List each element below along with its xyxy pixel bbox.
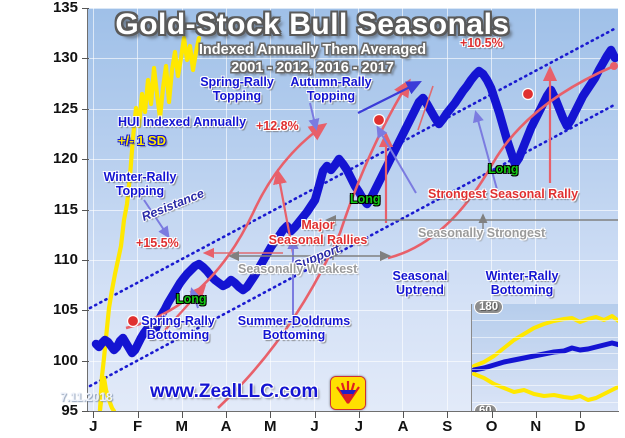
y-axis-tick (82, 411, 89, 412)
y-axis-tick (82, 58, 89, 59)
annotation-spring-rally-topping-line1: Spring-Rally (192, 76, 282, 89)
annotation-summer-doldrums-line1: Summer-Doldrums (230, 315, 358, 328)
annotation-sd-band: +/- 1 SD (118, 134, 166, 148)
page-title: Gold-Stock Bull Seasonals (0, 8, 625, 42)
x-axis-label: M (258, 418, 282, 435)
inset-gridline (472, 320, 618, 321)
inset-bottom-label: 60 (474, 404, 497, 411)
annotation-autumn-rally-topping-line2: Topping (284, 90, 378, 103)
x-axis-label: M (170, 418, 194, 435)
x-axis-label: N (524, 418, 548, 435)
zeal-logo (330, 376, 366, 410)
annotation-seasonal-uptrend-line1: Seasonal (378, 270, 462, 283)
inset-gridline (472, 369, 618, 370)
annotation-summer-doldrums-line2: Bottoming (230, 329, 358, 342)
x-axis-label: D (568, 418, 592, 435)
x-axis-tick (359, 411, 360, 418)
x-axis-tick (93, 411, 94, 418)
annotation-hui-indexed: HUI Indexed Annually (118, 116, 246, 129)
annotation-strongest-rally: Strongest Seasonal Rally (428, 188, 578, 201)
y-axis-tick (82, 361, 89, 362)
y-axis-label: 110 (6, 251, 78, 268)
inset-chart (471, 304, 618, 411)
y-axis-label: 105 (6, 301, 78, 318)
annotation-spring-rally-topping-line2: Topping (192, 90, 282, 103)
x-axis-tick (270, 411, 271, 418)
inset-gridline (472, 385, 618, 386)
x-axis-label: A (214, 418, 238, 435)
y-axis-label: 125 (6, 100, 78, 117)
annotation-autumn-rally-topping-line1: Autumn-Rally (284, 76, 378, 89)
y-axis-tick (82, 210, 89, 211)
y-axis-label: 120 (6, 150, 78, 167)
date-stamp: 7.11.2018 (60, 390, 113, 404)
inset-top-label: 180 (474, 300, 503, 314)
inset-gridline (472, 353, 618, 354)
x-axis-tick (138, 411, 139, 418)
x-axis-tick (580, 411, 581, 418)
inset-gridline (472, 402, 618, 403)
y-axis-label: 130 (6, 49, 78, 66)
annotation-seasonally-strongest: Seasonally Strongest (418, 227, 545, 240)
chart-root: HUI Indexed Annually +/- 1 SD Winter-Ral… (0, 0, 625, 438)
x-axis-line (88, 411, 619, 412)
annotation-pct-2: +12.8% (256, 120, 299, 133)
x-axis-tick (403, 411, 404, 418)
sd-upper-band (100, 38, 199, 410)
x-axis-tick (315, 411, 316, 418)
annotation-winter-rally-topping-line2: Topping (96, 185, 184, 198)
annotation-winter-rally-bottoming-line2: Bottoming (472, 284, 572, 297)
sunburst-icon (331, 377, 365, 409)
x-axis-label: J (347, 418, 371, 435)
x-axis-tick (226, 411, 227, 418)
annotation-winter-rally-bottoming-line1: Winter-Rally (472, 270, 572, 283)
subtitle-line-1: Indexed Annually Then Averaged (0, 42, 625, 58)
annotation-long-3: Long (488, 163, 519, 176)
y-axis-tick (82, 109, 89, 110)
annotation-major-line1: Major (283, 219, 353, 232)
x-axis-label: A (391, 418, 415, 435)
y-axis-label: 100 (6, 352, 78, 369)
x-axis-label: F (126, 418, 150, 435)
x-axis-tick (447, 411, 448, 418)
y-axis-label: 135 (6, 0, 78, 16)
y-axis-tick (82, 8, 89, 9)
y-axis-label: 115 (6, 201, 78, 218)
x-axis-label: J (303, 418, 327, 435)
y-axis-label: 95 (6, 402, 78, 419)
annotation-seasonally-weakest: Seasonally Weakest (238, 263, 357, 276)
annotation-long-2: Long (350, 193, 381, 206)
x-axis-tick (536, 411, 537, 418)
annotation-winter-rally-topping-line1: Winter-Rally (96, 171, 184, 184)
x-axis-label: J (81, 418, 105, 435)
y-axis-tick (82, 260, 89, 261)
x-axis-tick (492, 411, 493, 418)
subtitle-line-2: 2001 - 2012, 2016 - 2017 (0, 60, 625, 76)
annotation-spring-rally-bottoming-line1: Spring-Rally (118, 315, 238, 328)
website-link[interactable]: www.ZealLLC.com (150, 381, 318, 403)
annotation-major-line2: Seasonal Rallies (248, 234, 388, 247)
y-axis-tick (82, 159, 89, 160)
x-axis-label: S (435, 418, 459, 435)
annotation-seasonal-uptrend-line2: Uptrend (378, 284, 462, 297)
annotation-pct-1: +15.5% (136, 237, 179, 250)
x-axis-tick (182, 411, 183, 418)
annotation-long-1: Long (176, 293, 207, 306)
y-axis-tick (82, 310, 89, 311)
x-axis-label: O (480, 418, 504, 435)
inset-gridline (472, 337, 618, 338)
annotation-spring-rally-bottoming-line2: Bottoming (118, 329, 238, 342)
